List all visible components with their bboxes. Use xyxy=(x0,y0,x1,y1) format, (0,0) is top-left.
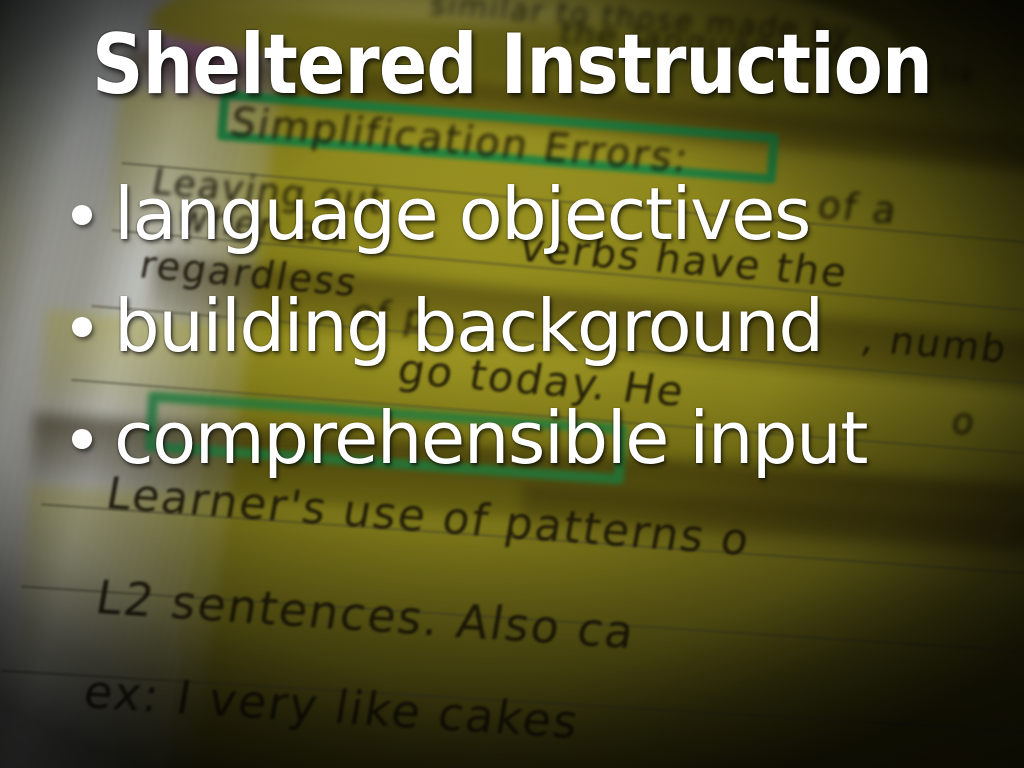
bullet-dot-icon xyxy=(72,317,92,337)
bullet-item-language-objectives: language objectives xyxy=(66,168,1006,280)
bullet-item-comprehensible-input: comprehensible input xyxy=(66,392,1006,504)
bullet-list: language objectives building background … xyxy=(66,168,1006,504)
bullet-label: comprehensible input xyxy=(114,392,867,484)
presentation-slide: similar to those made bythe language asl… xyxy=(0,0,1024,768)
bullet-dot-icon xyxy=(72,429,92,449)
bullet-dot-icon xyxy=(72,205,92,225)
bullet-label: language objectives xyxy=(114,168,810,260)
slide-title: Sheltered Instruction xyxy=(72,22,953,108)
bullet-item-building-background: building background xyxy=(66,280,1006,392)
bullet-label: building background xyxy=(114,280,823,372)
slide-content: Sheltered Instruction language objective… xyxy=(0,0,1024,768)
